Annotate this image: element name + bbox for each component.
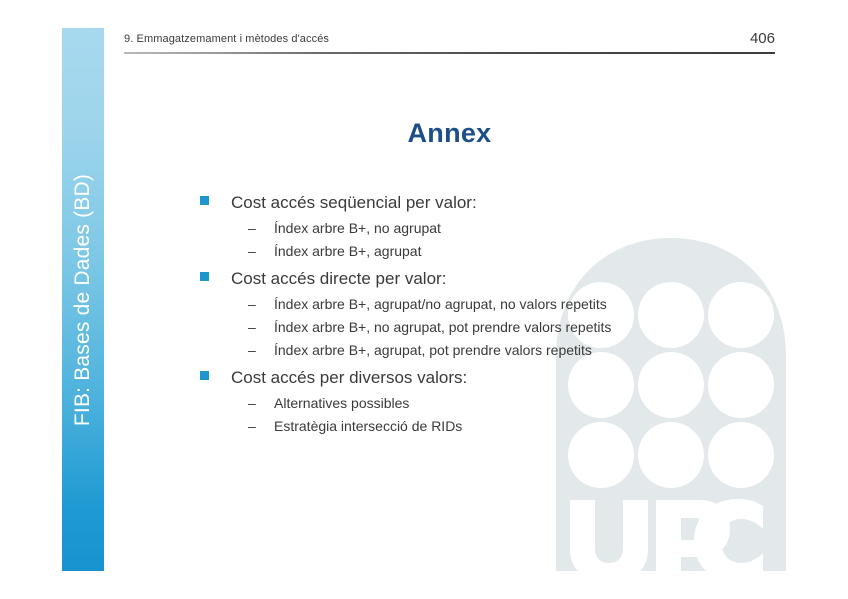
sub-bullet-label: Índex arbre B+, agrupat, pot prendre val… xyxy=(274,342,592,358)
sub-bullet-label: Estratègia intersecció de RIDs xyxy=(274,418,462,434)
dash-bullet-icon: – xyxy=(248,320,260,334)
bullet-group: Cost accés seqüencial per valor: – Índex… xyxy=(200,193,780,266)
sub-bullet-item: – Índex arbre B+, agrupat/no agrupat, no… xyxy=(200,296,780,319)
header-divider-rule xyxy=(124,52,775,54)
square-bullet-icon xyxy=(200,371,209,380)
sub-bullet-label: Índex arbre B+, agrupat xyxy=(274,243,422,259)
dash-bullet-icon: – xyxy=(248,419,260,433)
chapter-header-text: 9. Emmagatzemament i mètodes d'accés xyxy=(124,33,329,45)
dash-bullet-icon: – xyxy=(248,396,260,410)
square-bullet-icon xyxy=(200,196,209,205)
sub-bullet-label: Índex arbre B+, no agrupat, pot prendre … xyxy=(274,319,611,335)
bullet-label: Cost accés per diversos valors: xyxy=(231,368,467,388)
square-bullet-icon xyxy=(200,272,209,281)
sub-bullet-label: Alternatives possibles xyxy=(274,395,409,411)
dash-bullet-icon: – xyxy=(248,244,260,258)
dash-bullet-icon: – xyxy=(248,297,260,311)
page-title: Annex xyxy=(124,118,775,149)
bullet-item: Cost accés seqüencial per valor: xyxy=(200,193,780,220)
bullet-content-list: Cost accés seqüencial per valor: – Índex… xyxy=(200,193,780,441)
bullet-group: Cost accés directe per valor: – Índex ar… xyxy=(200,269,780,365)
sub-bullet-item: – Estratègia intersecció de RIDs xyxy=(200,418,780,441)
bullet-label: Cost accés seqüencial per valor: xyxy=(231,193,477,213)
bullet-item: Cost accés directe per valor: xyxy=(200,269,780,296)
sub-bullet-item: – Índex arbre B+, no agrupat xyxy=(200,220,780,243)
dash-bullet-icon: – xyxy=(248,343,260,357)
bullet-group: Cost accés per diversos valors: – Altern… xyxy=(200,368,780,441)
watermark-upc-letters xyxy=(570,499,763,571)
sidebar-course-label: FIB: Bases de Dades (BD) xyxy=(71,173,95,425)
slide-canvas: FIB: Bases de Dades (BD) 9. Emmagatzemam… xyxy=(0,0,848,599)
page-number: 406 xyxy=(750,30,775,47)
dash-bullet-icon: – xyxy=(248,221,260,235)
sub-bullet-item: – Índex arbre B+, no agrupat, pot prendr… xyxy=(200,319,780,342)
sub-bullet-label: Índex arbre B+, agrupat/no agrupat, no v… xyxy=(274,296,607,312)
sub-bullet-item: – Índex arbre B+, agrupat xyxy=(200,243,780,266)
bullet-label: Cost accés directe per valor: xyxy=(231,269,446,289)
course-sidebar: FIB: Bases de Dades (BD) xyxy=(62,28,104,571)
sub-bullet-item: – Alternatives possibles xyxy=(200,395,780,418)
sub-bullet-label: Índex arbre B+, no agrupat xyxy=(274,220,441,236)
bullet-item: Cost accés per diversos valors: xyxy=(200,368,780,395)
sub-bullet-item: – Índex arbre B+, agrupat, pot prendre v… xyxy=(200,342,780,365)
